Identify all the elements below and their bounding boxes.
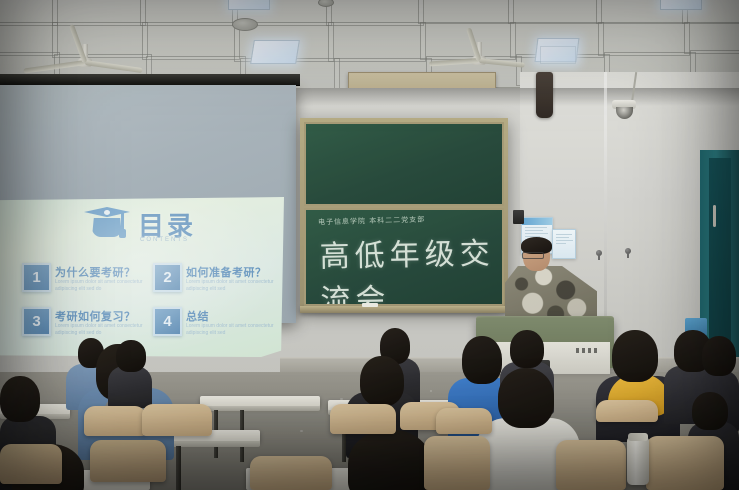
chair bbox=[142, 404, 212, 436]
ceiling-light-panel bbox=[250, 40, 300, 64]
blackboard-upper-panel bbox=[304, 122, 504, 206]
ceiling-light-panel bbox=[228, 0, 270, 10]
ceiling-fan-left bbox=[78, 44, 92, 72]
wall-switch-panel[interactable] bbox=[513, 210, 524, 224]
door-handle[interactable] bbox=[713, 205, 716, 227]
ceiling-light-panel bbox=[660, 0, 702, 10]
blackboard-subline: 电子信息学院 本科二二党支部 bbox=[318, 215, 425, 228]
water-bottle-cap[interactable] bbox=[628, 433, 648, 441]
chalk-piece bbox=[362, 303, 378, 307]
ceiling-vent bbox=[232, 18, 258, 31]
slide-item-number: 2 bbox=[153, 263, 182, 292]
slide-subtitle: CONTENTS bbox=[140, 237, 189, 243]
slide-item-1: 1 为什么要考研？ Lorem ipsum dolor sit amet con… bbox=[22, 263, 150, 303]
presenter bbox=[505, 240, 597, 326]
slide-item-desc: Lorem ipsum dolor sit amet consectetur a… bbox=[186, 279, 281, 293]
student-glasses-left bbox=[108, 340, 152, 396]
ceiling-fan-right bbox=[472, 42, 486, 70]
door[interactable] bbox=[709, 158, 731, 354]
chair bbox=[596, 400, 658, 422]
slide-item-number: 3 bbox=[22, 307, 51, 336]
projector-screen[interactable]: 目录 CONTENTS 1 为什么要考研？ Lorem ipsum dolor … bbox=[0, 85, 296, 323]
classroom-scene: 目录 CONTENTS 1 为什么要考研？ Lorem ipsum dolor … bbox=[0, 0, 739, 490]
blackboard-lower-panel: 电子信息学院 本科二二党支部 高低年级交流会 bbox=[304, 208, 504, 306]
projected-slide: 目录 CONTENTS 1 为什么要考研？ Lorem ipsum dolor … bbox=[0, 197, 284, 357]
wall-speaker bbox=[536, 72, 553, 118]
chalk-tray bbox=[300, 306, 508, 313]
slide-item-title: 考研如何复习？ bbox=[55, 308, 136, 324]
water-bottle[interactable] bbox=[627, 437, 649, 485]
graduation-cap-icon bbox=[84, 205, 130, 239]
slide-item-desc: Lorem ipsum dolor sit amet consectetur a… bbox=[55, 323, 150, 337]
chair bbox=[436, 408, 492, 434]
chair bbox=[646, 436, 724, 490]
chair bbox=[556, 440, 626, 490]
ceiling-light-panel bbox=[540, 46, 576, 64]
chair bbox=[330, 404, 396, 434]
chair bbox=[0, 444, 62, 484]
chair bbox=[90, 440, 166, 482]
desk-edge bbox=[200, 406, 320, 411]
slide-item-4: 4 总结 Lorem ipsum dolor sit amet consecte… bbox=[153, 307, 281, 347]
slide-item-title: 总结 bbox=[186, 308, 209, 324]
slide-item-number: 1 bbox=[22, 263, 51, 292]
slide-item-title: 为什么要考研？ bbox=[55, 264, 136, 280]
glasses-icon bbox=[522, 252, 544, 259]
slide-item-title: 如何准备考研？ bbox=[186, 264, 267, 280]
slide-item-2: 2 如何准备考研？ Lorem ipsum dolor sit amet con… bbox=[153, 263, 281, 303]
blackboard-headline: 高低年级交流会 bbox=[319, 228, 503, 306]
chair bbox=[424, 436, 490, 490]
wall-hook-2 bbox=[625, 248, 631, 254]
slide-item-desc: Lorem ipsum dolor sit amet consectetur a… bbox=[186, 323, 281, 337]
chair bbox=[250, 456, 332, 490]
slide-item-desc: Lorem ipsum dolor sit amet consectetur a… bbox=[55, 279, 150, 293]
desk-leg bbox=[176, 446, 181, 490]
podium-control-buttons[interactable] bbox=[576, 348, 598, 353]
slide-item-number: 4 bbox=[153, 307, 182, 336]
chair bbox=[84, 406, 146, 436]
